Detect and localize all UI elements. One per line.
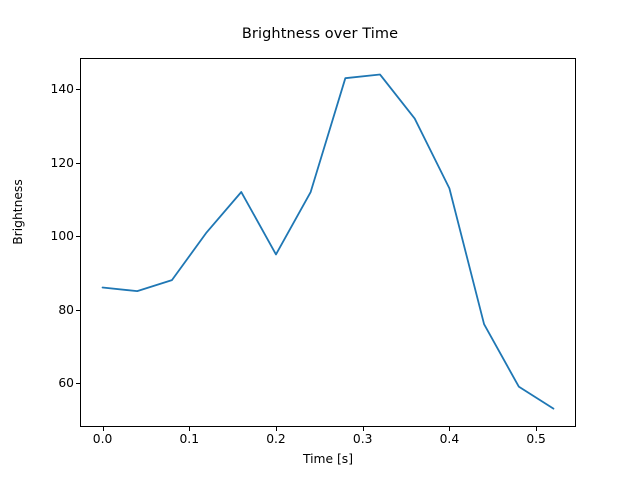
- x-axis-label: Time [s]: [80, 452, 576, 466]
- x-tick-label: 0.4: [419, 432, 479, 446]
- x-tick-label: 0.5: [506, 432, 566, 446]
- y-axis-tick-labels: 6080100120140: [20, 0, 74, 480]
- x-tick-label: 0.1: [159, 432, 219, 446]
- chart-title: Brightness over Time: [0, 26, 640, 42]
- x-tick-mark: [103, 427, 104, 431]
- x-tick-label: 0.0: [73, 432, 133, 446]
- y-tick-mark: [76, 89, 80, 90]
- y-tick-label: 140: [28, 82, 74, 96]
- x-tick-mark: [363, 427, 364, 431]
- chart-figure: Brightness over Time 6080100120140 0.00.…: [0, 0, 640, 480]
- y-tick-mark: [76, 383, 80, 384]
- x-tick-label: 0.2: [246, 432, 306, 446]
- y-tick-label: 80: [28, 303, 74, 317]
- x-tick-mark: [536, 427, 537, 431]
- x-tick-mark: [189, 427, 190, 431]
- plot-area: [80, 58, 576, 427]
- x-tick-mark: [449, 427, 450, 431]
- y-tick-mark: [76, 236, 80, 237]
- y-axis-label: Brightness: [11, 132, 25, 292]
- brightness-line-series: [103, 75, 554, 409]
- y-tick-mark: [76, 310, 80, 311]
- y-tick-label: 60: [28, 376, 74, 390]
- x-tick-label: 0.3: [333, 432, 393, 446]
- x-tick-mark: [276, 427, 277, 431]
- y-tick-label: 120: [28, 156, 74, 170]
- y-tick-mark: [76, 163, 80, 164]
- y-tick-label: 100: [28, 229, 74, 243]
